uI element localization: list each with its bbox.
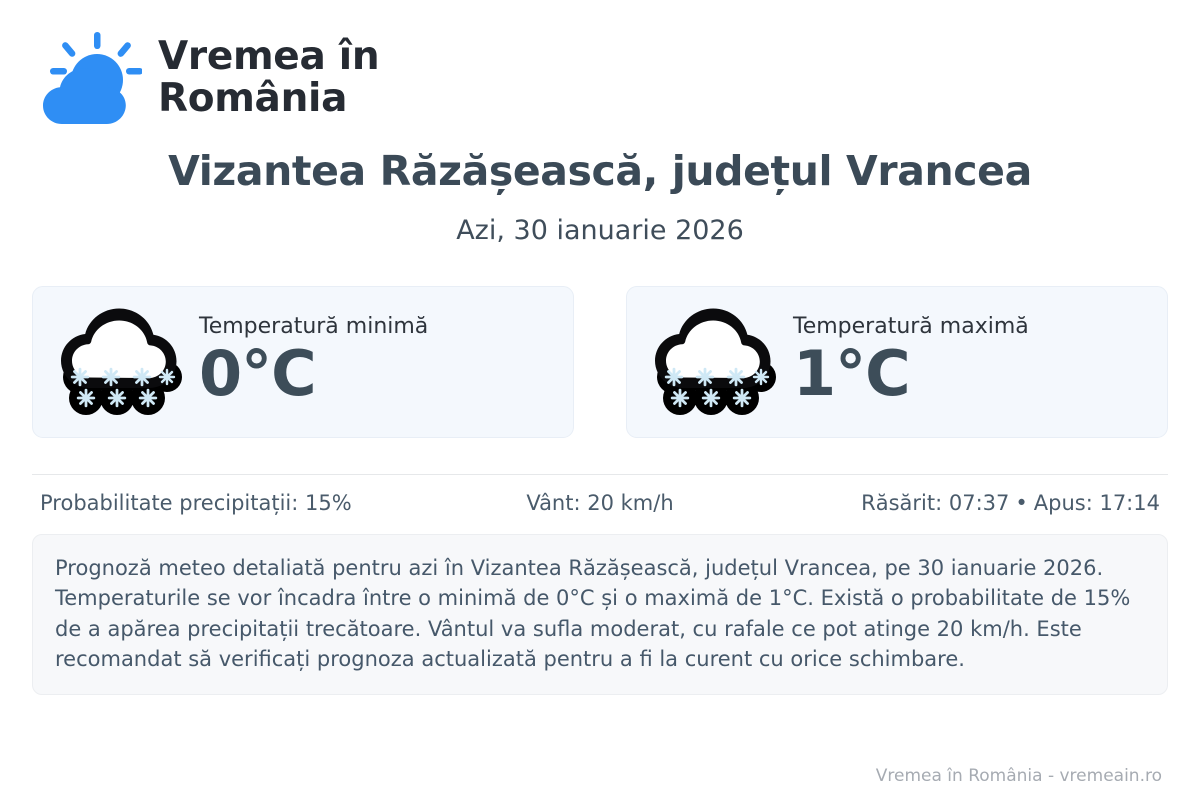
weather-page: Vremea în România Vizantea Răzășească, j… bbox=[0, 0, 1200, 800]
site-brand[interactable]: Vremea în România bbox=[32, 0, 1168, 110]
wind-stat: Vânt: 20 km/h bbox=[413, 491, 786, 516]
max-temperature-value: 1°C bbox=[793, 342, 1029, 405]
sun-behind-cloud-icon bbox=[38, 30, 142, 126]
forecast-description: Prognoză meteo detaliată pentru azi în V… bbox=[32, 534, 1168, 696]
footer-credit: Vremea în România - vremeain.ro bbox=[876, 766, 1162, 786]
snow-cloud-icon bbox=[55, 306, 185, 418]
min-temperature-value: 0°C bbox=[199, 342, 428, 405]
max-temperature-body: Temperatură maximă 1°C bbox=[793, 314, 1029, 410]
weather-stats: Probabilitate precipitații: 15% Vânt: 20… bbox=[32, 475, 1168, 516]
snow-cloud-icon bbox=[649, 306, 779, 418]
precipitation-stat: Probabilitate precipitații: 15% bbox=[40, 491, 413, 516]
page-title: Vizantea Răzășească, județul Vrancea bbox=[32, 148, 1168, 195]
sun-times-stat: Răsărit: 07:37•Apus: 17:14 bbox=[787, 491, 1160, 516]
temperature-cards: Temperatură minimă 0°C bbox=[32, 286, 1168, 438]
min-temperature-card: Temperatură minimă 0°C bbox=[32, 286, 574, 438]
min-temperature-body: Temperatură minimă 0°C bbox=[199, 314, 428, 410]
sun-separator: • bbox=[1009, 491, 1033, 515]
sunset-value: Apus: 17:14 bbox=[1034, 491, 1160, 515]
sunrise-value: Răsărit: 07:37 bbox=[861, 491, 1009, 515]
page-subtitle: Azi, 30 ianuarie 2026 bbox=[32, 215, 1168, 247]
brand-name: Vremea în România bbox=[158, 36, 379, 120]
max-temperature-card: Temperatură maximă 1°C bbox=[626, 286, 1168, 438]
